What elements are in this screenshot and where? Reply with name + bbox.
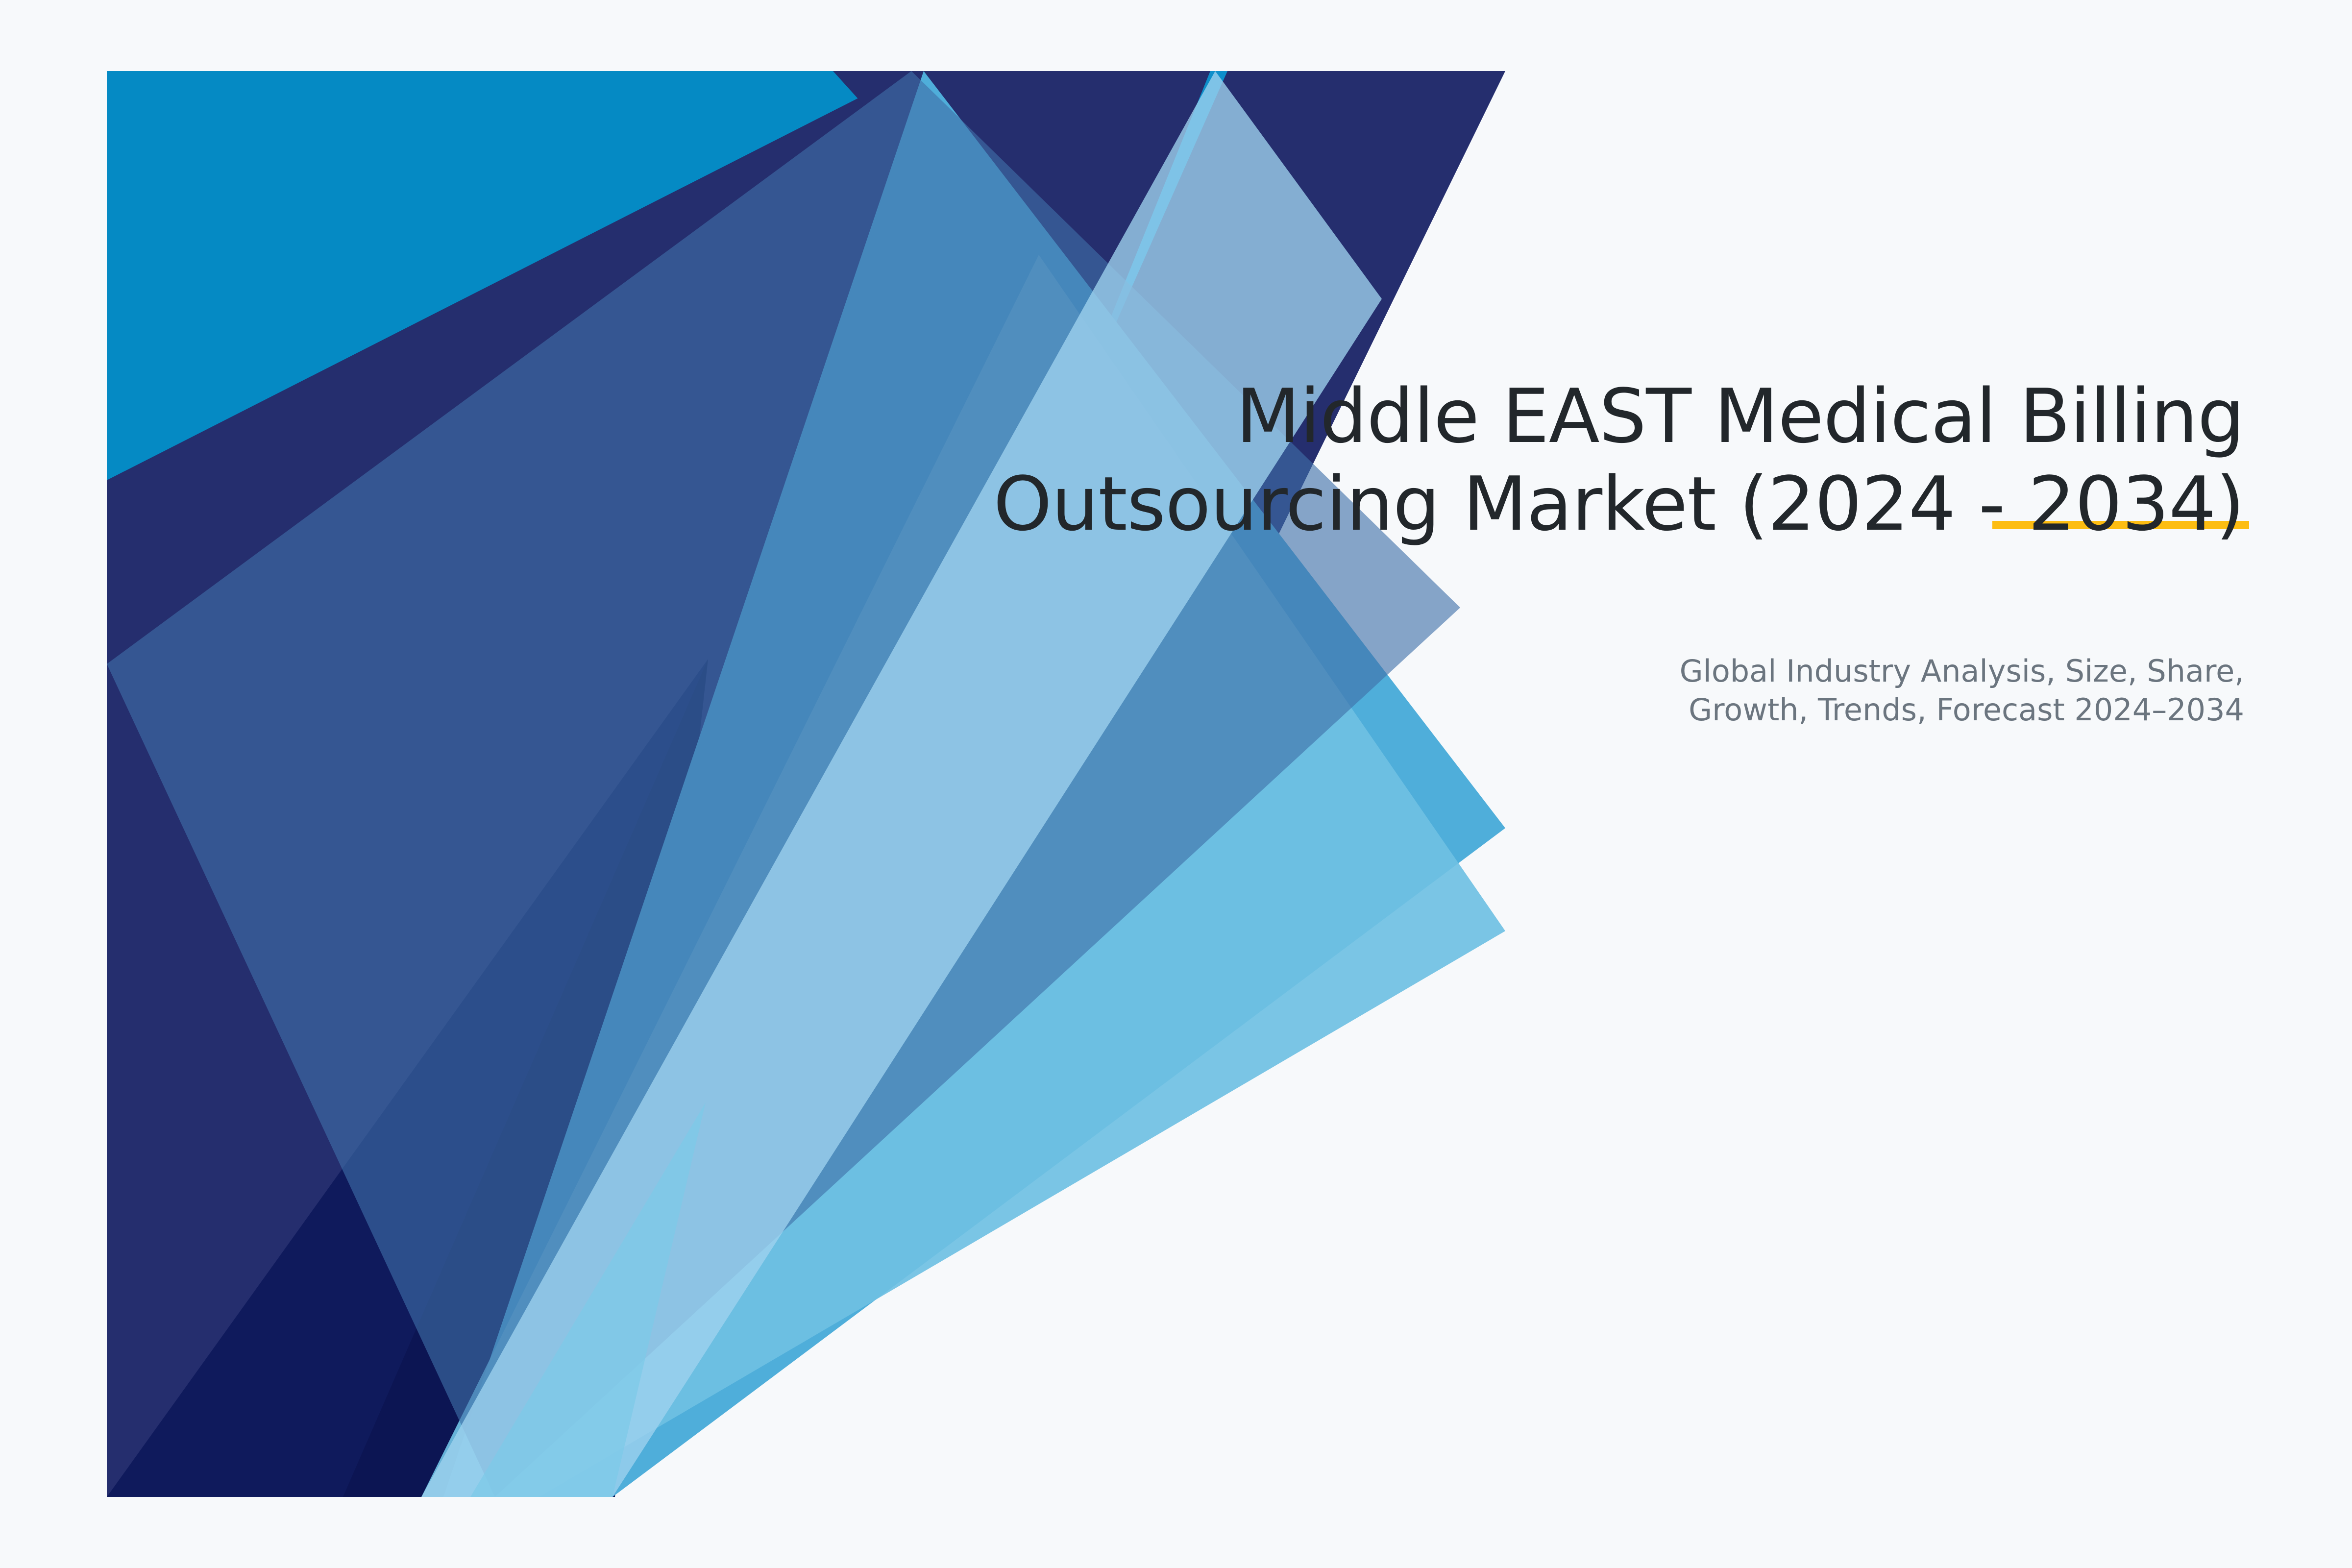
page-title: Middle EAST Medical Billing Outsourcing …: [931, 372, 2244, 548]
abstract-geometric-artwork: [0, 0, 2352, 1568]
report-cover-page: Middle EAST Medical Billing Outsourcing …: [0, 0, 2352, 1568]
page-subtitle: Global Industry Analysis, Size, Share, G…: [1421, 652, 2244, 730]
hero-text-block: Middle EAST Medical Billing Outsourcing …: [931, 372, 2244, 548]
